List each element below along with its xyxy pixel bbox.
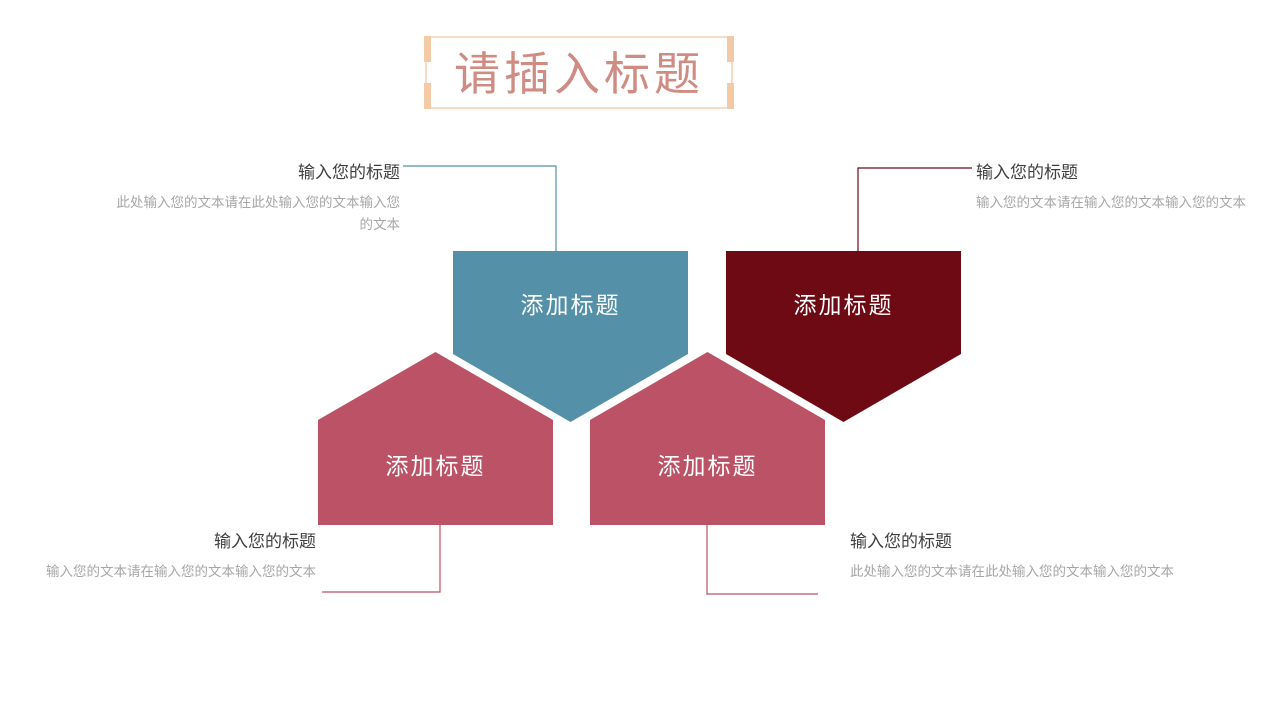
callout-title-bottom-left: 输入您的标题 bbox=[34, 527, 316, 552]
pentagon-label-top-right: 添加标题 bbox=[726, 286, 961, 320]
callout-bottom-left: 输入您的标题 输入您的文本请在输入您的文本输入您的文本 bbox=[34, 527, 316, 583]
pentagon-label-bottom-right: 添加标题 bbox=[590, 447, 825, 481]
page-title: 请插入标题 bbox=[425, 34, 733, 107]
pentagon-label-bottom-left: 添加标题 bbox=[318, 447, 553, 481]
pentagon-up-icon bbox=[318, 352, 553, 525]
callout-top-right: 输入您的标题 输入您的文本请在输入您的文本输入您的文本 bbox=[976, 158, 1266, 214]
pentagon-shape-bottom-left[interactable]: 添加标题 bbox=[318, 352, 553, 525]
pentagon-shape-bottom-right[interactable]: 添加标题 bbox=[590, 352, 825, 525]
callout-title-top-left: 输入您的标题 bbox=[104, 158, 400, 183]
callout-body-top-right: 输入您的文本请在输入您的文本输入您的文本 bbox=[976, 192, 1266, 214]
pentagon-label-top-left: 添加标题 bbox=[453, 286, 688, 320]
slide-canvas: 请插入标题 添加标题 添加标题 添加标题 添加标题 bbox=[0, 0, 1280, 720]
callout-body-top-left: 此处输入您的文本请在此处输入您的文本输入您的文本 bbox=[104, 192, 400, 237]
callout-bottom-right: 输入您的标题 此处输入您的文本请在此处输入您的文本输入您的文本 bbox=[850, 527, 1180, 583]
callout-title-bottom-right: 输入您的标题 bbox=[850, 527, 1180, 552]
pentagon-up-icon bbox=[590, 352, 825, 525]
callout-body-bottom-right: 此处输入您的文本请在此处输入您的文本输入您的文本 bbox=[850, 561, 1180, 583]
callout-title-top-right: 输入您的标题 bbox=[976, 158, 1266, 183]
callout-body-bottom-left: 输入您的文本请在输入您的文本输入您的文本 bbox=[34, 561, 316, 583]
callout-top-left: 输入您的标题 此处输入您的文本请在此处输入您的文本输入您的文本 bbox=[104, 158, 400, 237]
